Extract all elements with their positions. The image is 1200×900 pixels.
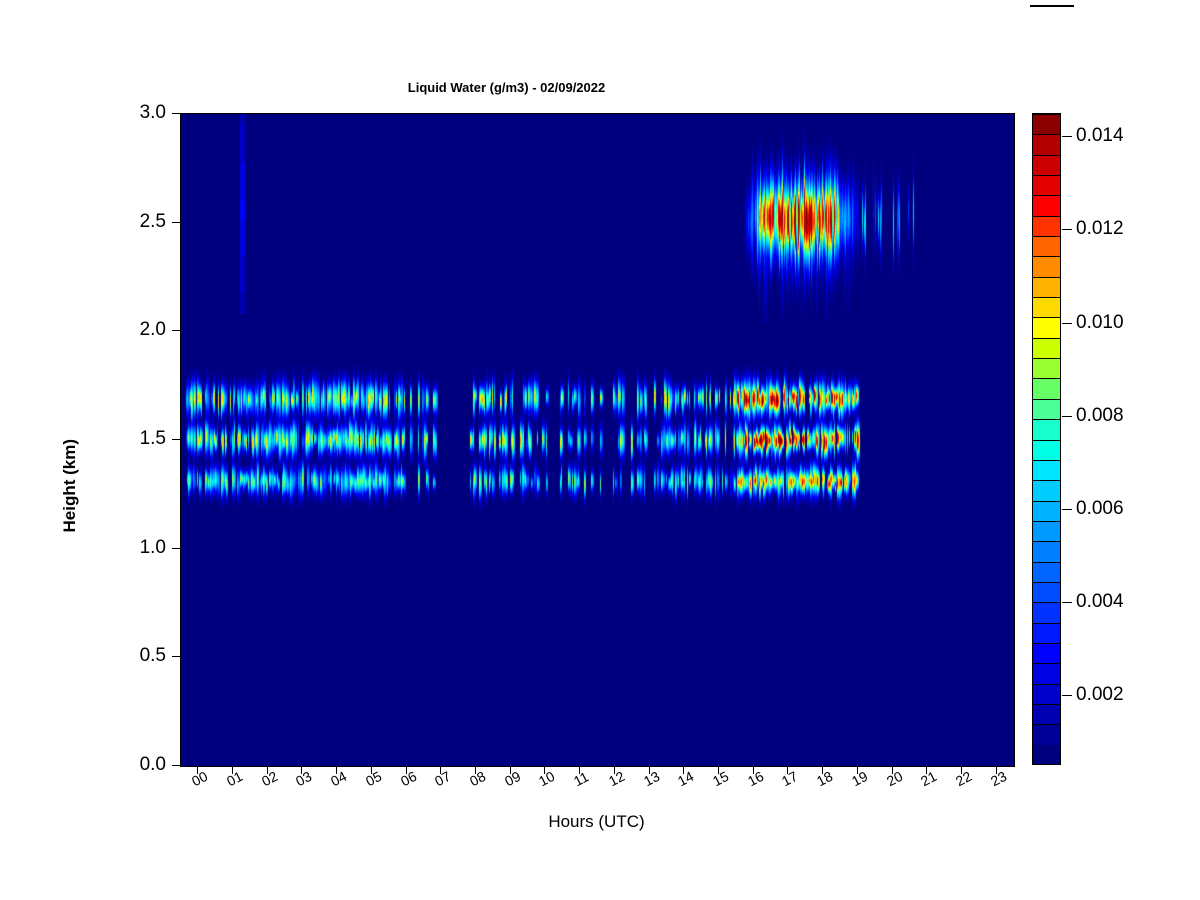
colorbar-segment	[1033, 358, 1060, 378]
colorbar-segment	[1033, 440, 1060, 460]
colorbar-segment	[1033, 643, 1060, 663]
colorbar-tick-mark	[1062, 602, 1072, 603]
colorbar-tick-mark	[1062, 416, 1072, 417]
colorbar-segment	[1033, 480, 1060, 500]
colorbar-tick-label: 0.008	[1076, 405, 1124, 427]
y-tick-label: 0.5	[140, 645, 166, 667]
colorbar-segment	[1033, 216, 1060, 236]
colorbar-segment	[1033, 134, 1060, 154]
x-tick-label: 19	[849, 768, 870, 789]
y-tick-mark	[172, 765, 180, 766]
colorbar-tick-mark	[1062, 136, 1072, 137]
x-tick-label: 08	[467, 768, 488, 789]
colorbar-segment	[1033, 724, 1060, 744]
x-tick-label: 20	[884, 768, 905, 789]
y-tick-mark	[172, 113, 180, 114]
colorbar-tick-mark	[1062, 323, 1072, 324]
y-tick-mark	[172, 656, 180, 657]
x-tick-label: 06	[398, 768, 419, 789]
y-tick-label: 3.0	[140, 102, 166, 124]
x-tick-label: 12	[606, 768, 627, 789]
colorbar-segment	[1033, 155, 1060, 175]
y-tick-mark	[172, 439, 180, 440]
y-tick-label: 2.0	[140, 319, 166, 341]
colorbar-segment	[1033, 460, 1060, 480]
x-tick-label: 04	[328, 768, 349, 789]
x-tick-label: 16	[745, 768, 766, 789]
x-tick-label: 13	[641, 768, 662, 789]
colorbar-tick-label: 0.006	[1076, 498, 1124, 520]
colorbar-segment	[1033, 114, 1060, 134]
x-tick-label: 03	[293, 768, 314, 789]
y-tick-label: 1.0	[140, 537, 166, 559]
y-tick-label: 2.5	[140, 211, 166, 233]
x-tick-label: 22	[953, 768, 974, 789]
y-tick-mark	[172, 548, 180, 549]
x-tick-label: 02	[259, 768, 280, 789]
x-tick-label: 09	[502, 768, 523, 789]
colorbar-tick-mark	[1062, 509, 1072, 510]
y-tick-mark	[172, 330, 180, 331]
colorbar-segment	[1033, 562, 1060, 582]
colorbar-segment	[1033, 297, 1060, 317]
x-tick-label: 21	[918, 768, 939, 789]
colorbar-segment	[1033, 378, 1060, 398]
colorbar-segment	[1033, 419, 1060, 439]
colorbar-segment	[1033, 623, 1060, 643]
colorbar-segment	[1033, 256, 1060, 276]
x-tick-label: 18	[814, 768, 835, 789]
x-tick-label: 05	[363, 768, 384, 789]
y-tick-label: 1.5	[140, 428, 166, 450]
colorbar-segment	[1033, 175, 1060, 195]
colorbar-segment	[1033, 745, 1060, 764]
heatmap-canvas	[181, 114, 1014, 766]
x-axis-label: Hours (UTC)	[180, 812, 1013, 832]
colorbar-segment	[1033, 704, 1060, 724]
colorbar-tick-label: 0.012	[1076, 218, 1124, 240]
colorbar-segment	[1033, 541, 1060, 561]
colorbar-segment	[1033, 399, 1060, 419]
colorbar-tick-label: 0.010	[1076, 312, 1124, 334]
y-axis-label: Height (km)	[60, 439, 84, 533]
liquid-water-heatmap-figure: Liquid Water (g/m3) - 02/09/2022 Height …	[0, 0, 1200, 900]
colorbar-segment	[1033, 195, 1060, 215]
colorbar-segment	[1033, 317, 1060, 337]
x-tick-label: 11	[571, 768, 591, 789]
x-tick-label: 01	[224, 768, 245, 789]
colorbar-tick-mark	[1062, 229, 1072, 230]
top-rule-artifact	[1030, 5, 1074, 7]
colorbar-segment	[1033, 338, 1060, 358]
x-tick-label: 15	[710, 768, 731, 789]
colorbar-segment	[1033, 582, 1060, 602]
colorbar-tick-label: 0.004	[1076, 591, 1124, 613]
colorbar-segment	[1033, 236, 1060, 256]
page-title: Liquid Water (g/m3) - 02/09/2022	[0, 80, 1013, 95]
x-tick-label: 17	[779, 768, 800, 789]
x-tick-label: 00	[189, 768, 210, 789]
colorbar-tick-mark	[1062, 695, 1072, 696]
x-tick-label: 14	[675, 768, 696, 789]
colorbar-segment	[1033, 663, 1060, 683]
x-tick-label: 23	[988, 768, 1009, 789]
colorbar-tick-label: 0.014	[1076, 125, 1124, 147]
colorbar	[1032, 113, 1061, 765]
x-tick-label: 07	[432, 768, 453, 789]
colorbar-segment	[1033, 684, 1060, 704]
colorbar-segment	[1033, 501, 1060, 521]
colorbar-segment	[1033, 521, 1060, 541]
x-tick-label: 10	[536, 768, 557, 789]
plot-area	[180, 113, 1015, 767]
colorbar-tick-label: 0.002	[1076, 684, 1124, 706]
colorbar-segment	[1033, 602, 1060, 622]
y-tick-mark	[172, 222, 180, 223]
y-tick-label: 0.0	[140, 754, 166, 776]
colorbar-segment	[1033, 277, 1060, 297]
